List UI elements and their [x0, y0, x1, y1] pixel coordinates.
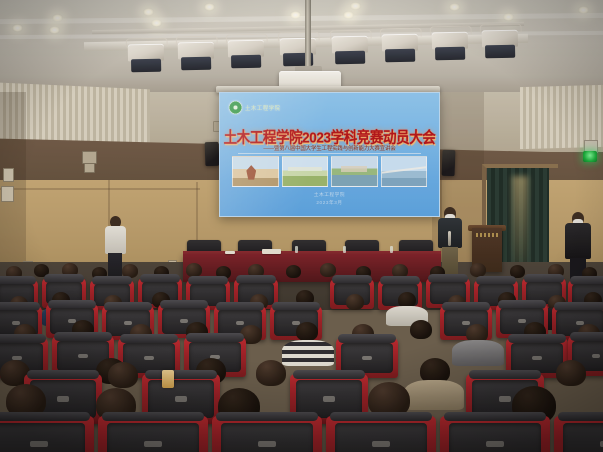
audience-head [556, 360, 586, 386]
audience-shoulders-striped [282, 340, 334, 366]
water-bottle [390, 246, 393, 253]
audience-shoulders [404, 380, 464, 410]
ceiling-downlight-icon [578, 6, 589, 14]
table-papers [225, 251, 235, 254]
ceiling-downlight-icon [49, 26, 60, 34]
stage-spotlight [432, 32, 469, 63]
ceiling-downlight-icon [12, 24, 23, 32]
auditorium-photo: 土木工程学院 土木工程学院2023学科竞赛动员大会 ——暨第八届中国大学生工程实… [0, 0, 603, 452]
audience-head [410, 320, 432, 339]
projection-screen: 土木工程学院 土木工程学院2023学科竞赛动员大会 ——暨第八届中国大学生工程实… [219, 92, 440, 217]
audience-head [186, 263, 202, 277]
theater-seat[interactable] [440, 416, 550, 452]
exit-sign-icon [583, 140, 597, 162]
stage-spotlight [382, 34, 419, 65]
table-papers [262, 249, 281, 254]
stage-spotlight [332, 36, 369, 67]
theater-seat[interactable] [326, 416, 436, 452]
ceiling-downlight-icon [290, 11, 301, 19]
presentation-slide: 土木工程学院 土木工程学院2023学科竞赛动员大会 ——暨第八届中国大学生工程实… [220, 93, 439, 216]
water-bottle [295, 246, 298, 253]
theater-seat[interactable] [98, 416, 208, 452]
ceiling-downlight-icon [503, 13, 514, 21]
wall-speaker-right [442, 150, 456, 176]
audience-head [296, 322, 318, 341]
audience-shoulders [452, 340, 504, 366]
ceiling-downlight-icon [151, 19, 162, 27]
theater-seat[interactable] [554, 416, 603, 452]
panel-seam [0, 188, 200, 190]
audience-head [256, 360, 286, 386]
lectern-nameplate [476, 233, 498, 237]
theater-seat[interactable] [0, 416, 94, 452]
stage-spotlight [482, 30, 519, 61]
ceiling-downlight-icon [350, 2, 361, 10]
audience-head [286, 265, 301, 278]
wall-control-box[interactable] [84, 163, 95, 173]
wall-speaker-left [205, 142, 220, 166]
phone-screen[interactable] [162, 370, 174, 388]
ceiling-downlight-icon [143, 8, 154, 16]
ceiling-downlight-icon [52, 14, 63, 22]
screen-glare [219, 92, 351, 217]
bridge-photo [381, 156, 428, 187]
microphone-icon [448, 231, 451, 246]
stage-spotlight [228, 40, 265, 71]
projector-mount-pole [305, 0, 311, 72]
theater-seat[interactable] [212, 416, 322, 452]
ceiling-downlight-icon [449, 3, 460, 11]
stage-spotlight [178, 42, 215, 73]
curtain-light-gap [512, 176, 528, 268]
stage-spotlight [128, 44, 165, 75]
ceiling-downlight-icon [343, 11, 354, 19]
audience-head [108, 362, 138, 388]
wall-switch-plate[interactable] [3, 168, 14, 182]
audience-head [346, 294, 364, 310]
water-bottle [343, 246, 346, 253]
wall-outlet-plate[interactable] [1, 186, 14, 202]
ceiling-downlight-icon [204, 3, 215, 11]
audience-area [0, 262, 603, 452]
audience-head [470, 263, 486, 277]
